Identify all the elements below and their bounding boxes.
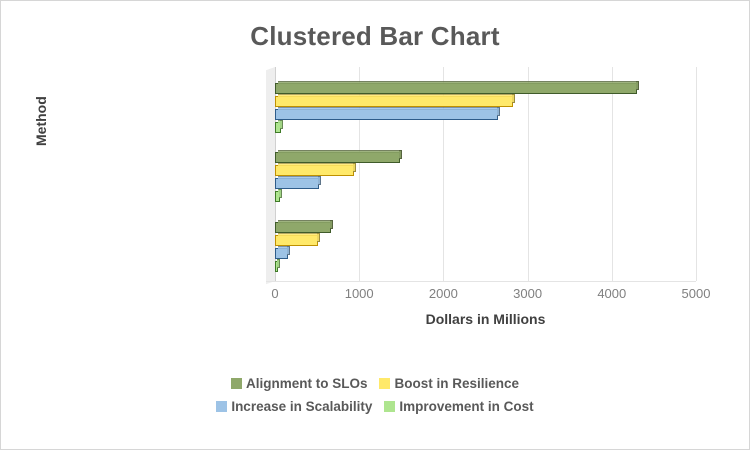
chart-title: Clustered Bar Chart: [1, 21, 749, 52]
legend-item[interactable]: Improvement in Cost: [384, 399, 533, 414]
bar-row: [275, 107, 696, 120]
legend-swatch-icon: [216, 401, 227, 412]
gridline: [696, 67, 697, 281]
x-axis-title: Dollars in Millions: [275, 311, 696, 327]
bar[interactable]: [275, 261, 278, 272]
bar-row: [275, 94, 696, 107]
chart-container: Clustered Bar Chart Method 0100020003000…: [0, 0, 750, 450]
bar[interactable]: [275, 165, 354, 176]
legend-item[interactable]: Alignment to SLOs: [231, 376, 368, 391]
bar-cluster: [275, 220, 696, 272]
bar-row: [275, 150, 696, 163]
bar-row: [275, 246, 696, 259]
bar-cluster: [275, 150, 696, 202]
x-tick-label: 3000: [498, 286, 558, 301]
legend-label: Boost in Resilience: [394, 376, 519, 391]
bar-row: [275, 120, 696, 133]
legend-label: Improvement in Cost: [399, 399, 533, 414]
legend-row-1: Alignment to SLOsBoost in Resilience: [225, 376, 525, 391]
bar[interactable]: [275, 222, 331, 233]
bar[interactable]: [275, 235, 318, 246]
bar-row: [275, 233, 696, 246]
x-tick-label: 5000: [666, 286, 726, 301]
y-axis-title: Method: [33, 96, 49, 146]
legend-label: Increase in Scalability: [231, 399, 372, 414]
bar-row: [275, 189, 696, 202]
bar-row: [275, 163, 696, 176]
legend-row-2: Increase in ScalabilityImprovement in Co…: [210, 399, 539, 414]
legend-swatch-icon: [384, 401, 395, 412]
bar-row: [275, 259, 696, 272]
chart-legend: Alignment to SLOsBoost in Resilience Inc…: [1, 376, 749, 414]
bar[interactable]: [275, 122, 281, 133]
plot-floor: [266, 281, 696, 282]
bar[interactable]: [275, 152, 400, 163]
legend-swatch-icon: [231, 378, 242, 389]
plot-sidewall: [266, 67, 275, 284]
plot-area: [275, 73, 696, 281]
bar-cluster: [275, 81, 696, 133]
bar-row: [275, 81, 696, 94]
legend-swatch-icon: [379, 378, 390, 389]
legend-label: Alignment to SLOs: [246, 376, 368, 391]
bar[interactable]: [275, 96, 513, 107]
legend-item[interactable]: Boost in Resilience: [379, 376, 519, 391]
bar-row: [275, 176, 696, 189]
bar[interactable]: [275, 248, 288, 259]
x-tick-label: 0: [245, 286, 305, 301]
bar[interactable]: [275, 191, 280, 202]
legend-item[interactable]: Increase in Scalability: [216, 399, 372, 414]
bar[interactable]: [275, 178, 319, 189]
bar[interactable]: [275, 83, 637, 94]
bar-row: [275, 220, 696, 233]
x-tick-label: 2000: [413, 286, 473, 301]
x-tick-label: 1000: [329, 286, 389, 301]
x-tick-label: 4000: [582, 286, 642, 301]
bar[interactable]: [275, 109, 498, 120]
